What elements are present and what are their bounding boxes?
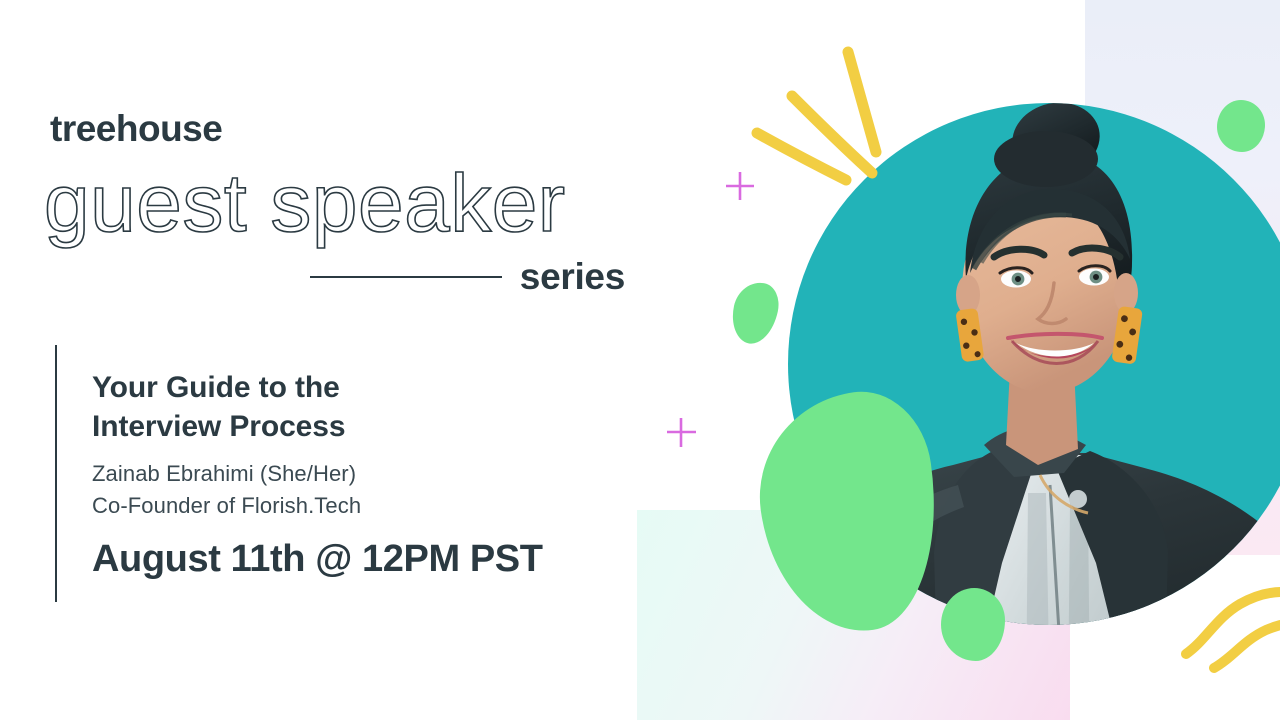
series-row: series — [310, 258, 625, 295]
green-blob-small — [941, 588, 1005, 661]
event-info-block: Your Guide to the Interview Process Zain… — [92, 368, 632, 581]
pink-cross-icon — [726, 172, 754, 200]
green-blob-left — [727, 278, 783, 348]
vertical-accent-rule — [55, 345, 57, 602]
pink-cross-icon — [667, 418, 696, 447]
talk-title-line1: Your Guide to the — [92, 371, 340, 404]
brand-wordmark: treehouse — [50, 110, 222, 147]
talk-title-line2: Interview Process — [92, 410, 345, 443]
speaker-name: Zainab Ebrahimi (She/Her) — [92, 458, 632, 490]
series-divider-rule — [310, 276, 502, 278]
speaker-role: Co-Founder of Florish.Tech — [92, 490, 632, 522]
event-datetime: August 11th @ 12PM PST — [92, 539, 632, 581]
series-label: series — [520, 258, 625, 295]
headline-outline: guest speaker — [44, 163, 566, 245]
talk-title: Your Guide to the Interview Process — [92, 368, 632, 446]
promo-slide: treehouse guest speaker series Your Guid… — [0, 0, 1280, 720]
